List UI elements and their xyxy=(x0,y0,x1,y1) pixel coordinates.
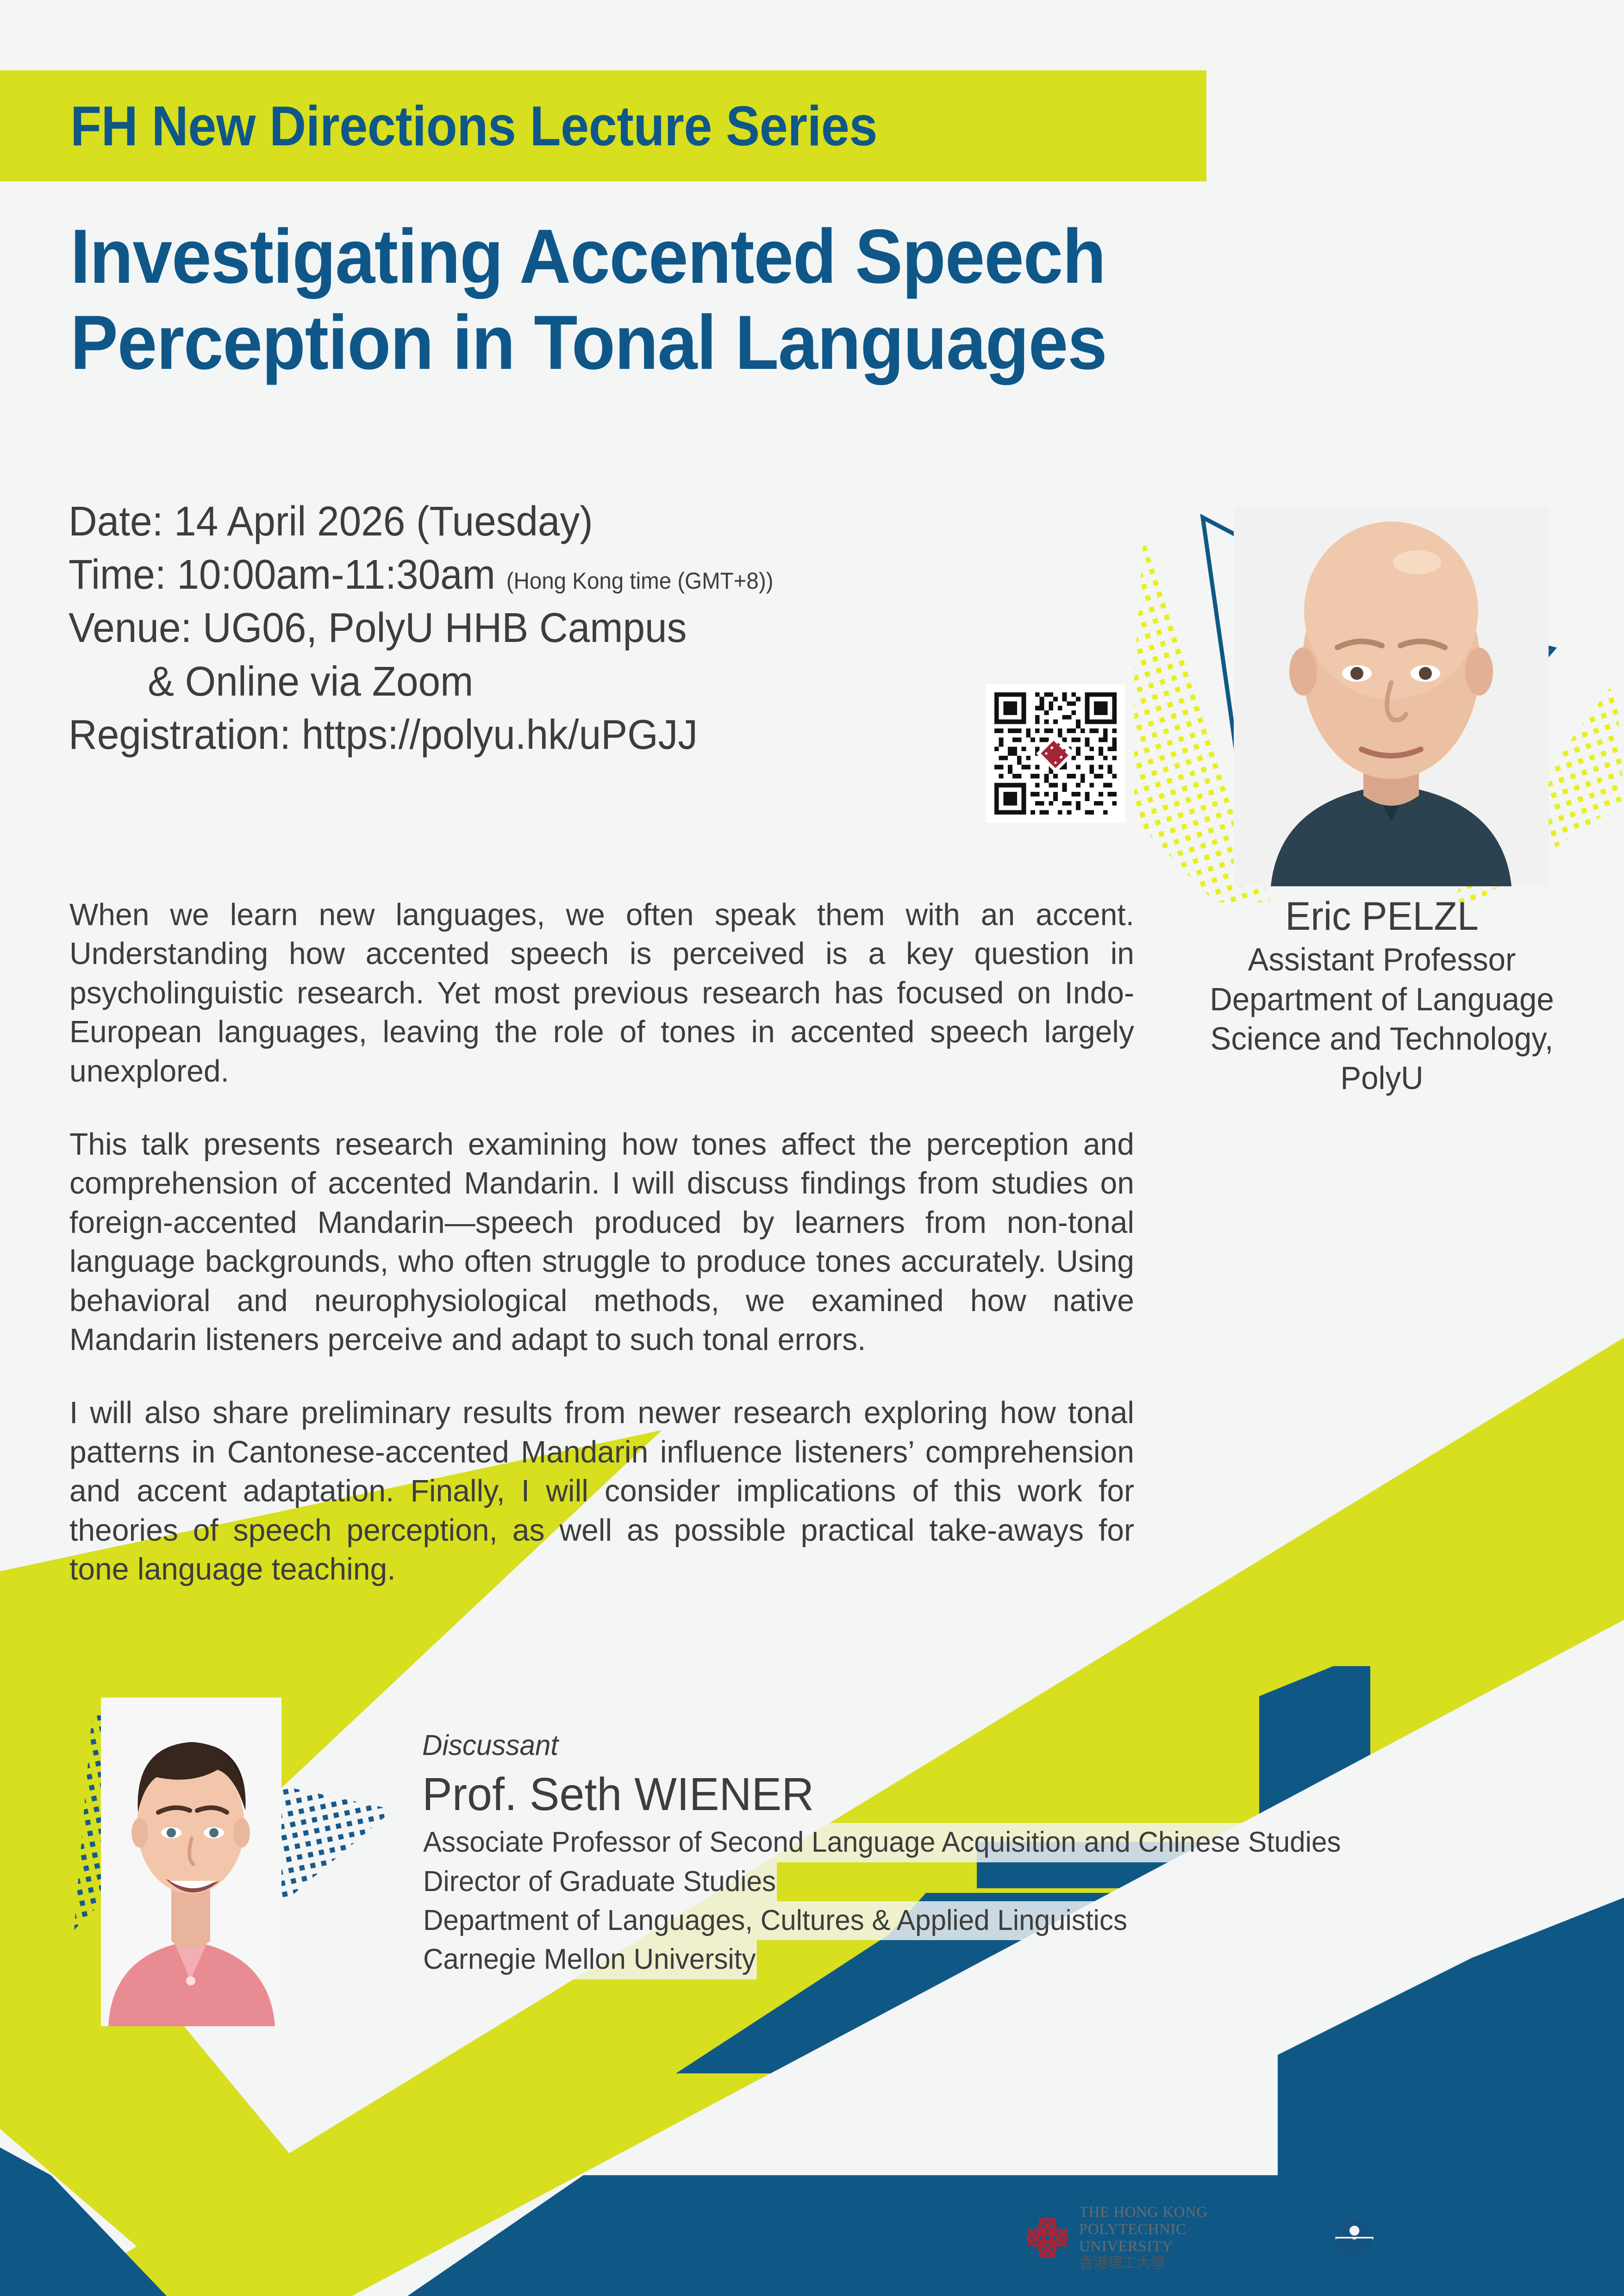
abstract-paragraph-1: When we learn new languages, we often sp… xyxy=(69,896,1134,1091)
page-title: Investigating Accented Speech Perception… xyxy=(70,214,1319,386)
discussant-line-3: Department of Languages, Cultures & Appl… xyxy=(422,1901,1128,1940)
polyu-name-line-1: THE HONG KONG xyxy=(1079,2204,1278,2221)
discussant-credentials: Associate Professor of Second Language A… xyxy=(422,1823,1342,1979)
discussant-photo xyxy=(101,1698,281,2026)
title-line-2: Perception in Tonal Languages xyxy=(70,300,1319,386)
polyu-logo: THE HONG KONG POLYTECHNIC UNIVERSITY 香港理… xyxy=(1023,2204,1278,2271)
speaker-name: Eric PELZL xyxy=(1157,896,1606,937)
abstract-paragraph-3: I will also share preliminary results fr… xyxy=(69,1394,1134,1589)
event-time: Time: 10:00am-11:30am xyxy=(69,552,495,598)
event-date: Date: 14 April 2026 (Tuesday) xyxy=(69,495,773,548)
lecture-series-banner: FH New Directions Lecture Series xyxy=(0,70,1206,181)
discussant-line-1: Associate Professor of Second Language A… xyxy=(422,1823,1342,1862)
discussant-line-4: Carnegie Mellon University xyxy=(422,1940,757,1979)
abstract-paragraph-2: This talk presents research examining ho… xyxy=(69,1125,1134,1359)
title-line-1: Investigating Accented Speech xyxy=(70,214,1319,300)
abstract: When we learn new languages, we often sp… xyxy=(69,896,1134,1589)
blue-stripe-left xyxy=(0,2147,167,2296)
speaker-department-line-1: Department of Language xyxy=(1157,980,1606,1019)
speaker-photo xyxy=(1234,507,1549,886)
faculty-name-english: Faculty of Humanities xyxy=(1383,2207,1555,2250)
discussant-label: Discussant xyxy=(422,1729,1342,1763)
speaker-affiliation: PolyU xyxy=(1157,1058,1606,1098)
event-details: Date: 14 April 2026 (Tuesday) Time: 10:0… xyxy=(69,495,773,762)
speaker-info: Eric PELZL Assistant Professor Departmen… xyxy=(1148,896,1616,1098)
discussant-line-2: Director of Graduate Studies xyxy=(422,1862,777,1901)
footer-logos: THE HONG KONG POLYTECHNIC UNIVERSITY 香港理… xyxy=(1023,2203,1555,2272)
event-venue: Venue: UG06, PolyU HHB Campus xyxy=(69,602,773,655)
registration-qr-code[interactable] xyxy=(986,684,1125,823)
poster-root: FH New Directions Lecture Series Investi… xyxy=(0,0,1624,2296)
polyu-name-line-2: POLYTECHNIC UNIVERSITY xyxy=(1079,2221,1278,2255)
humanities-figure-icon xyxy=(1334,2216,1375,2259)
polyu-knot-icon xyxy=(1023,2213,1072,2263)
event-time-row: Time: 10:00am-11:30am (Hong Kong time (G… xyxy=(69,548,773,602)
polyu-name-chinese: 香港理工大學 xyxy=(1079,2255,1278,2271)
event-registration-link[interactable]: Registration: https://polyu.hk/uPGJJ xyxy=(69,709,773,762)
lecture-series-label: FH New Directions Lecture Series xyxy=(70,98,877,154)
discussant-name: Prof. Seth WIENER xyxy=(422,1769,1342,1819)
faculty-name-chinese: 人文學院 xyxy=(1383,2251,1555,2269)
faculty-wordmark: Faculty of Humanities 人文學院 xyxy=(1383,2207,1555,2268)
faculty-of-humanities-logo: Faculty of Humanities 人文學院 xyxy=(1334,2207,1555,2268)
event-venue-online: & Online via Zoom xyxy=(69,655,773,709)
speaker-department-line-2: Science and Technology, xyxy=(1157,1019,1606,1058)
discussant-info: Discussant Prof. Seth WIENER Associate P… xyxy=(422,1729,1370,1979)
speaker-title: Assistant Professor xyxy=(1157,940,1606,979)
polyu-wordmark: THE HONG KONG POLYTECHNIC UNIVERSITY 香港理… xyxy=(1079,2204,1278,2271)
event-timezone: (Hong Kong time (GMT+8)) xyxy=(506,568,774,594)
